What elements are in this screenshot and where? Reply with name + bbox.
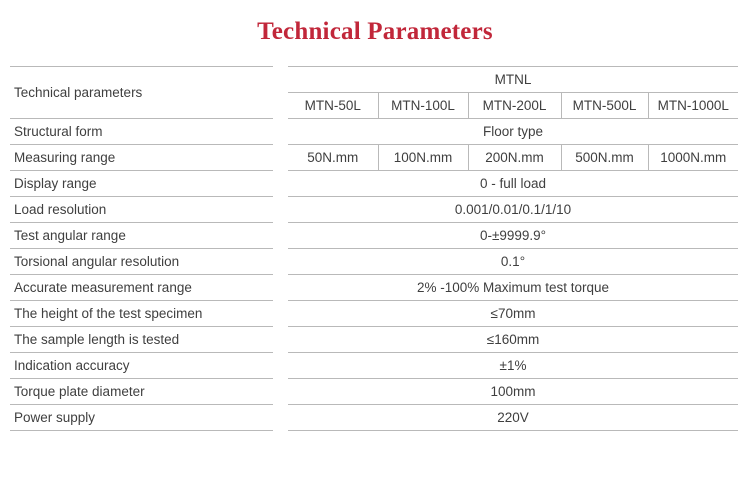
table-row: The height of the test specimen: [10, 301, 273, 327]
table-row: Torsional angular resolution: [10, 249, 273, 275]
table-row-series-header: MTNL: [288, 67, 738, 93]
row-label-torque-plate-diameter: Torque plate diameter: [10, 379, 273, 405]
parameter-value-table: MTNL MTN-50L MTN-100L MTN-200L MTN-500L …: [288, 66, 738, 431]
table-row: Test angular range: [10, 223, 273, 249]
model-cell-mtn-500l: MTN-500L: [561, 93, 648, 119]
value-accurate-measurement-range: 2% -100% Maximum test torque: [288, 275, 738, 301]
value-specimen-height: ≤70mm: [288, 301, 738, 327]
table-row: Measuring range: [10, 145, 273, 171]
row-label-specimen-height: The height of the test specimen: [10, 301, 273, 327]
parameter-label-body: Technical parameters Structural form Mea…: [10, 67, 273, 431]
value-measuring-range-1000: 1000N.mm: [648, 145, 738, 171]
value-display-range: 0 - full load: [288, 171, 738, 197]
table-row-models: MTN-50L MTN-100L MTN-200L MTN-500L MTN-1…: [288, 93, 738, 119]
model-cell-mtn-50l: MTN-50L: [288, 93, 378, 119]
value-load-resolution: 0.001/0.01/0.1/1/10: [288, 197, 738, 223]
table-row-measuring-range: 50N.mm 100N.mm 200N.mm 500N.mm 1000N.mm: [288, 145, 738, 171]
row-label-power-supply: Power supply: [10, 405, 273, 431]
value-torque-plate-diameter: 100mm: [288, 379, 738, 405]
value-torsional-angular-resolution: 0.1°: [288, 249, 738, 275]
row-label-load-resolution: Load resolution: [10, 197, 273, 223]
row-label-test-angular-range: Test angular range: [10, 223, 273, 249]
table-row: Floor type: [288, 119, 738, 145]
row-label-indication-accuracy: Indication accuracy: [10, 353, 273, 379]
table-row: Power supply: [10, 405, 273, 431]
parameter-value-body: MTNL MTN-50L MTN-100L MTN-200L MTN-500L …: [288, 67, 738, 431]
table-row: Load resolution: [10, 197, 273, 223]
model-cell-mtn-200l: MTN-200L: [468, 93, 561, 119]
table-row: ≤70mm: [288, 301, 738, 327]
table-row: 0.1°: [288, 249, 738, 275]
row-label-sample-length: The sample length is tested: [10, 327, 273, 353]
table-row: 220V: [288, 405, 738, 431]
value-indication-accuracy: ±1%: [288, 353, 738, 379]
value-structural-form: Floor type: [288, 119, 738, 145]
model-cell-mtn-1000l: MTN-1000L: [648, 93, 738, 119]
row-label-torsional-angular-resolution: Torsional angular resolution: [10, 249, 273, 275]
table-row: Torque plate diameter: [10, 379, 273, 405]
table-row: 2% -100% Maximum test torque: [288, 275, 738, 301]
table-row: 0-±9999.9°: [288, 223, 738, 249]
series-header: MTNL: [288, 67, 738, 93]
value-test-angular-range: 0-±9999.9°: [288, 223, 738, 249]
value-power-supply: 220V: [288, 405, 738, 431]
model-cell-mtn-100l: MTN-100L: [378, 93, 468, 119]
table-row: 0 - full load: [288, 171, 738, 197]
table-row: 0.001/0.01/0.1/1/10: [288, 197, 738, 223]
parameter-label-table: Technical parameters Structural form Mea…: [10, 66, 273, 431]
value-measuring-range-200: 200N.mm: [468, 145, 561, 171]
table-row: 100mm: [288, 379, 738, 405]
value-measuring-range-100: 100N.mm: [378, 145, 468, 171]
value-measuring-range-500: 500N.mm: [561, 145, 648, 171]
table-row: ±1%: [288, 353, 738, 379]
row-label-structural-form: Structural form: [10, 119, 273, 145]
row-label-accurate-measurement-range: Accurate measurement range: [10, 275, 273, 301]
table-row: Accurate measurement range: [10, 275, 273, 301]
page-title: Technical Parameters: [0, 18, 750, 46]
row-label-measuring-range: Measuring range: [10, 145, 273, 171]
technical-parameters-page: Technical Parameters Technical parameter…: [0, 0, 750, 498]
value-measuring-range-50: 50N.mm: [288, 145, 378, 171]
table-row: The sample length is tested: [10, 327, 273, 353]
table-row: Display range: [10, 171, 273, 197]
value-sample-length: ≤160mm: [288, 327, 738, 353]
table-row: Indication accuracy: [10, 353, 273, 379]
parameter-column-header: Technical parameters: [10, 67, 273, 119]
table-row: Technical parameters: [10, 67, 273, 119]
row-label-display-range: Display range: [10, 171, 273, 197]
table-row: Structural form: [10, 119, 273, 145]
table-row: ≤160mm: [288, 327, 738, 353]
